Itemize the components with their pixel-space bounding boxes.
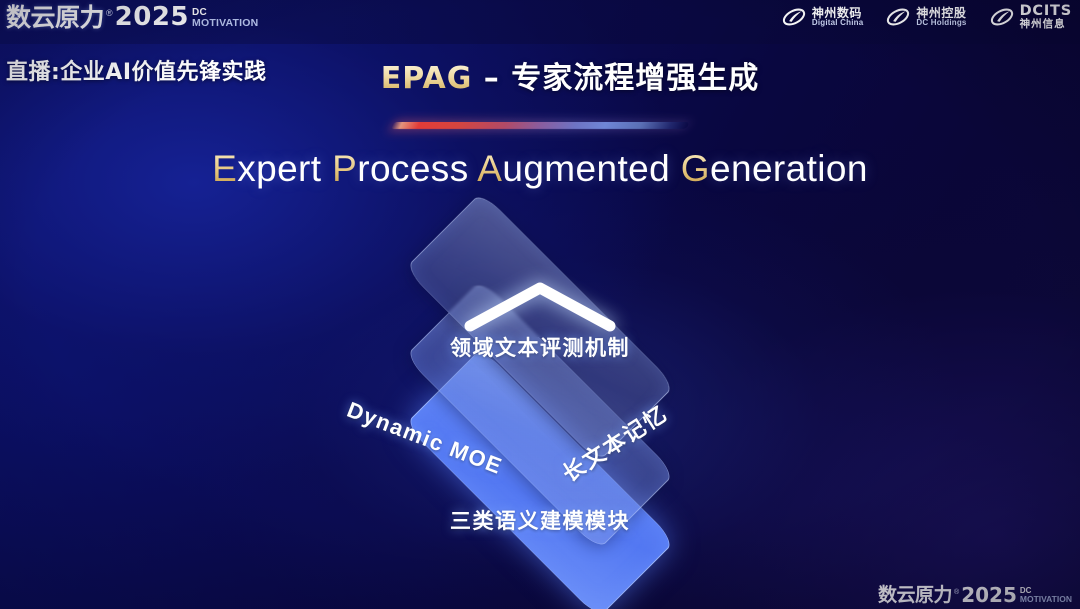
gradient-divider: [390, 122, 689, 129]
layer-label-top: 领域文本评测机制: [276, 332, 804, 362]
subtitle: Expert Process Augmented Generation: [0, 148, 1080, 190]
partner-name-en: 神州信息: [1020, 19, 1072, 30]
brand-logo-year: 2025: [115, 4, 189, 30]
slide-canvas: 数云原力 ® 2025 DC MOTIVATION 直播:企业AI价值先锋实践 …: [0, 0, 1080, 609]
partner-name-cn: DCITS: [1020, 4, 1072, 19]
partner-logo-dcits: DCITS 神州信息: [989, 4, 1072, 30]
chevron-up-icon: [462, 278, 618, 334]
swoosh-icon: [989, 4, 1015, 30]
partner-name-en: DC Holdings: [916, 19, 966, 27]
subtitle-segment-7: eneration: [710, 148, 868, 189]
subtitle-segment-3: rocess: [357, 148, 477, 189]
partner-name-en: Digital China: [812, 19, 864, 27]
subtitle-segment-5: ugmented: [502, 148, 680, 189]
page-title-rest: – 专家流程增强生成: [472, 61, 759, 96]
watermark-year: 2025: [961, 585, 1017, 605]
subtitle-segment-6: G: [681, 148, 710, 189]
subtitle-segment-4: A: [477, 148, 502, 189]
watermark-logo: 数云原力 ® 2025 DC MOTIVATION: [878, 585, 1072, 605]
partner-text: DCITS 神州信息: [1020, 4, 1072, 30]
watermark-motivation: MOTIVATION: [1020, 595, 1072, 604]
partner-text: 神州数码 Digital China: [812, 7, 864, 28]
brand-logo-cn: 数云原力: [6, 5, 104, 30]
layer-label-bottom: 三类语义建模模块: [276, 505, 804, 535]
watermark-cn: 数云原力: [878, 586, 952, 605]
isometric-layer-diagram: 领域文本评测机制 Dynamic MOE 长文本记忆 三类语义建模模块: [276, 218, 804, 578]
partner-logo-group: 神州数码 Digital China 神州控股 DC Holdings DCIT…: [781, 4, 1072, 30]
page-title: EPAG – 专家流程增强生成: [0, 53, 1080, 97]
watermark-registered: ®: [954, 589, 959, 596]
partner-logo-dc-holdings: 神州控股 DC Holdings: [885, 4, 966, 30]
page-title-accent: EPAG: [381, 61, 473, 96]
brand-logo: 数云原力 ® 2025 DC MOTIVATION: [6, 4, 258, 30]
partner-text: 神州控股 DC Holdings: [916, 7, 966, 28]
watermark-sub: DC MOTIVATION: [1020, 587, 1072, 605]
swoosh-icon: [885, 4, 911, 30]
subtitle-segment-0: E: [212, 148, 237, 189]
swoosh-icon: [781, 4, 807, 30]
subtitle-segment-2: P: [332, 148, 357, 189]
brand-logo-sub: DC MOTIVATION: [192, 8, 258, 30]
brand-logo-registered: ®: [106, 9, 113, 18]
brand-logo-motivation: MOTIVATION: [192, 18, 258, 29]
subtitle-segment-1: xpert: [237, 148, 332, 189]
partner-logo-digital-china: 神州数码 Digital China: [781, 4, 864, 30]
